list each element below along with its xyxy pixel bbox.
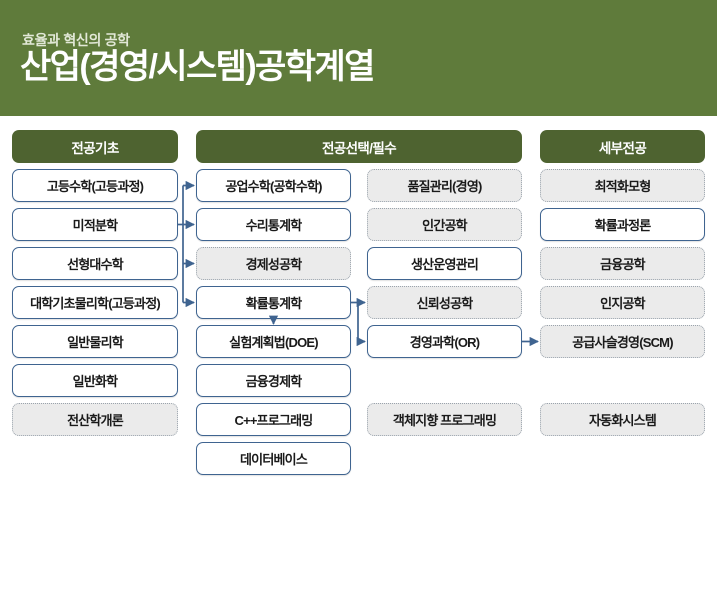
course-box[interactable]: 경제성공학 — [196, 247, 351, 280]
course-box[interactable]: 미적분학 — [12, 208, 178, 241]
column-header-0: 전공기초 — [12, 130, 178, 163]
course-box[interactable]: 금융경제학 — [196, 364, 351, 397]
course-box[interactable]: 자동화시스템 — [540, 403, 705, 436]
column-header-2: 세부전공 — [540, 130, 705, 163]
course-box[interactable]: 경영과학(OR) — [367, 325, 522, 358]
course-box[interactable]: 실험계획법(DOE) — [196, 325, 351, 358]
course-box[interactable]: 공업수학(공학수학) — [196, 169, 351, 202]
course-box[interactable]: 최적화모형 — [540, 169, 705, 202]
course-box[interactable]: 인간공학 — [367, 208, 522, 241]
course-box[interactable]: 공급사슬경영(SCM) — [540, 325, 705, 358]
course-box[interactable]: 전산학개론 — [12, 403, 178, 436]
course-box[interactable]: 객체지향 프로그래밍 — [367, 403, 522, 436]
course-box[interactable]: 품질관리(경영) — [367, 169, 522, 202]
course-box[interactable]: 선형대수학 — [12, 247, 178, 280]
course-box[interactable]: 고등수학(고등과정) — [12, 169, 178, 202]
column-header-1: 전공선택/필수 — [196, 130, 522, 163]
course-box[interactable]: 대학기초물리학(고등과정) — [12, 286, 178, 319]
course-box[interactable]: 금융공학 — [540, 247, 705, 280]
course-box[interactable]: 일반화학 — [12, 364, 178, 397]
course-box[interactable]: 인지공학 — [540, 286, 705, 319]
page-title: 산업(경영/시스템)공학계열 — [20, 48, 374, 87]
course-box[interactable]: 신뢰성공학 — [367, 286, 522, 319]
page-banner: 효율과 혁신의 공학 산업(경영/시스템)공학계열 — [0, 0, 717, 116]
course-box[interactable]: C++프로그래밍 — [196, 403, 351, 436]
course-box[interactable]: 확률통계학 — [196, 286, 351, 319]
course-box[interactable]: 데이터베이스 — [196, 442, 351, 475]
course-box[interactable]: 일반물리학 — [12, 325, 178, 358]
course-box[interactable]: 확률과정론 — [540, 208, 705, 241]
course-box[interactable]: 생산운영관리 — [367, 247, 522, 280]
banner-subtitle: 효율과 혁신의 공학 — [22, 30, 130, 50]
course-box[interactable]: 수리통계학 — [196, 208, 351, 241]
